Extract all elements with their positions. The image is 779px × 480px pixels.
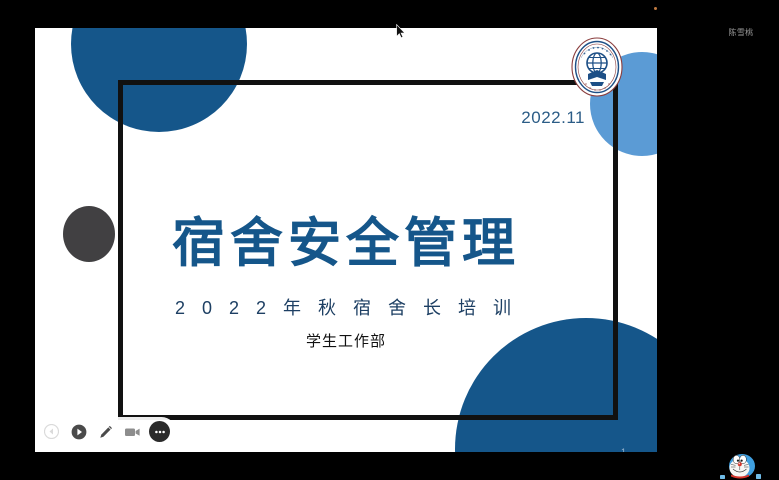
play-icon: [71, 424, 87, 440]
screen-share-view: 陈雪桃 2022.11: [0, 0, 779, 480]
previous-slide-button[interactable]: [41, 421, 62, 442]
doraemon-avatar-sticker: [718, 447, 764, 480]
slide-department-label: 学生工作部: [35, 332, 657, 351]
slide-main-title: 宿舍安全管理: [35, 213, 657, 275]
video-camera-icon: [124, 425, 141, 439]
slide-date-label: 2022.11: [465, 108, 585, 128]
slide-subtitle: 2 0 2 2 年 秋 宿 舍 长 培 训: [35, 297, 657, 319]
ellipsis-icon: [152, 424, 168, 440]
university-emblem-icon: [569, 36, 625, 98]
slide-title-block: 宿舍安全管理 2 0 2 2 年 秋 宿 舍 长 培 训 学生工作部: [35, 213, 657, 351]
next-slide-button[interactable]: [68, 421, 89, 442]
video-button[interactable]: [122, 421, 143, 442]
annotate-pen-button[interactable]: [95, 421, 116, 442]
pencil-icon: [98, 424, 114, 440]
slide-number-label: 1: [621, 447, 626, 452]
recording-indicator-dot: [654, 7, 657, 10]
presentation-toolbar[interactable]: [35, 417, 176, 446]
more-options-button[interactable]: [149, 421, 170, 442]
shared-slide[interactable]: 2022.11: [35, 28, 657, 452]
chevron-left-icon: [44, 424, 59, 439]
participant-name-label: 陈雪桃: [716, 28, 766, 38]
